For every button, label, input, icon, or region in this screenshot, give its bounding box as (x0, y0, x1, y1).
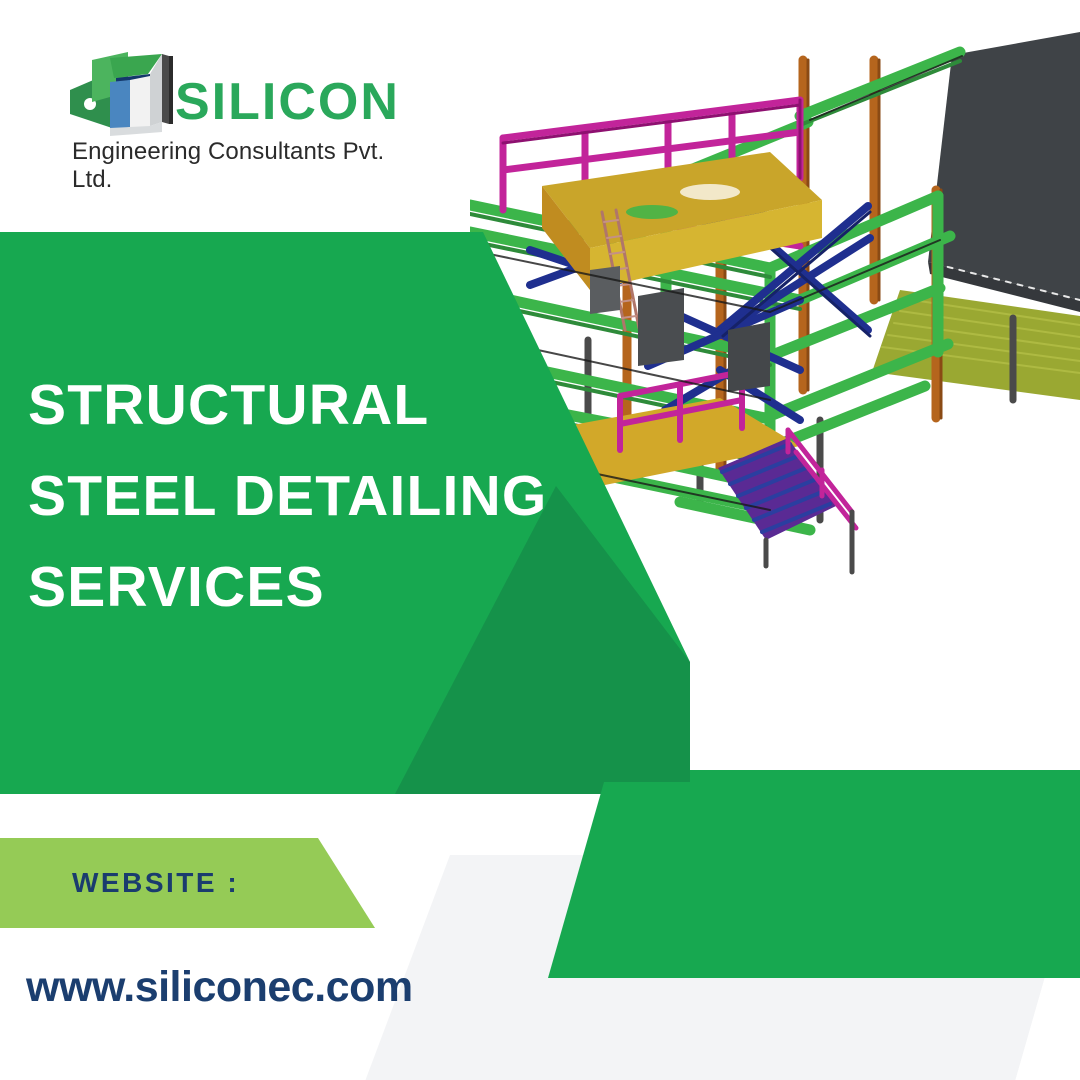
brand-tagline: Engineering Consultants Pvt. Ltd. (72, 138, 415, 194)
headline-line-2: STEEL DETAILING (28, 451, 628, 542)
headline-line-1: STRUCTURAL (28, 360, 628, 451)
silicon-logo-mark-icon (70, 52, 175, 144)
website-url-link[interactable]: www.siliconec.com (26, 963, 413, 1012)
website-label: WEBSITE : (72, 867, 239, 899)
page-title: STRUCTURAL STEEL DETAILING SERVICES (28, 360, 628, 633)
green-strip-accent (690, 770, 1080, 784)
website-banner: WEBSITE : (0, 838, 375, 928)
brand-logo[interactable]: SILICON Engineering Consultants Pvt. Ltd… (70, 52, 415, 170)
headline-line-3: SERVICES (28, 542, 628, 633)
poster-canvas: STRUCTURAL STEEL DETAILING SERVICES WEBS… (0, 0, 1080, 1080)
brand-wordmark: SILICON (175, 72, 400, 132)
green-parallelogram-accent (548, 782, 1080, 978)
